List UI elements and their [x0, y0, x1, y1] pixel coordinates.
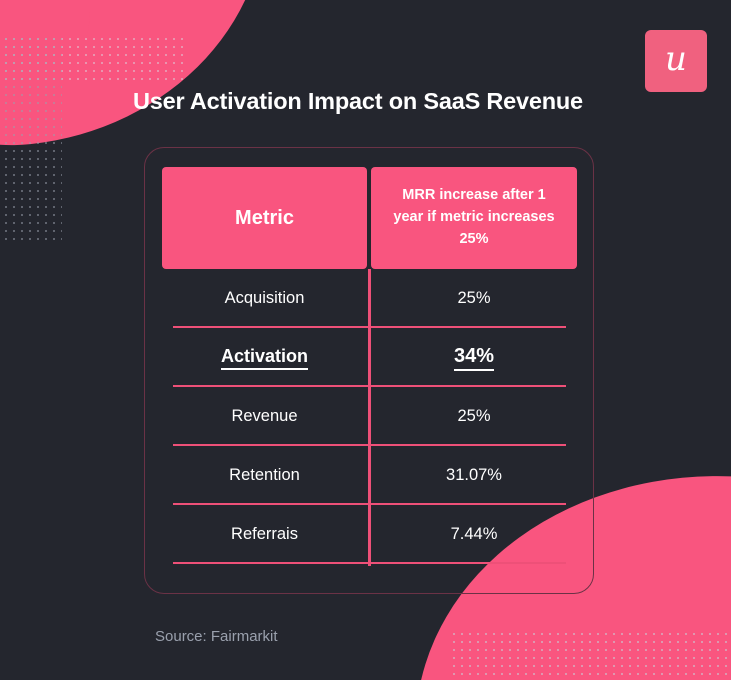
- cell-metric: Referrais: [162, 505, 367, 564]
- cell-metric: Retention: [162, 446, 367, 505]
- cell-metric-label: Retention: [229, 466, 300, 485]
- cell-value: 31.07%: [371, 446, 577, 505]
- dot-grid-top-left: [0, 33, 62, 241]
- cell-metric-label: Revenue: [231, 407, 297, 426]
- metrics-table: Metric MRR increase after 1 year if metr…: [162, 167, 577, 564]
- cell-metric: Activation: [162, 328, 367, 387]
- dot-grid-bottom-right: [448, 628, 731, 680]
- cell-metric-label: Referrais: [231, 525, 298, 544]
- cell-value: 7.44%: [371, 505, 577, 564]
- cell-metric: Acquisition: [162, 269, 367, 328]
- cell-value: 25%: [371, 269, 577, 328]
- cell-metric: Revenue: [162, 387, 367, 446]
- table-header-mrr-label: MRR increase after 1 year if metric incr…: [387, 185, 561, 250]
- cell-metric-label: Activation: [221, 346, 308, 370]
- cell-value-label: 25%: [457, 289, 490, 308]
- table-column-separator: [368, 269, 371, 566]
- userpilot-logo: u: [645, 30, 707, 92]
- cell-value: 34%: [371, 328, 577, 387]
- cell-value-label: 7.44%: [451, 525, 498, 544]
- cell-value-label: 31.07%: [446, 466, 502, 485]
- page-title: User Activation Impact on SaaS Revenue: [133, 88, 583, 115]
- infographic-canvas: u User Activation Impact on SaaS Revenue…: [0, 0, 731, 680]
- table-header-row: Metric MRR increase after 1 year if metr…: [162, 167, 577, 269]
- cell-value-label: 34%: [454, 345, 494, 371]
- table-header-metric: Metric: [162, 167, 367, 269]
- source-caption: Source: Fairmarkit: [155, 628, 278, 645]
- table-card: Metric MRR increase after 1 year if metr…: [144, 147, 594, 594]
- cell-value: 25%: [371, 387, 577, 446]
- cell-value-label: 25%: [457, 407, 490, 426]
- logo-u-icon: u: [665, 42, 687, 76]
- table-header-metric-label: Metric: [235, 207, 294, 230]
- cell-metric-label: Acquisition: [225, 289, 305, 308]
- table-header-mrr: MRR increase after 1 year if metric incr…: [371, 167, 577, 269]
